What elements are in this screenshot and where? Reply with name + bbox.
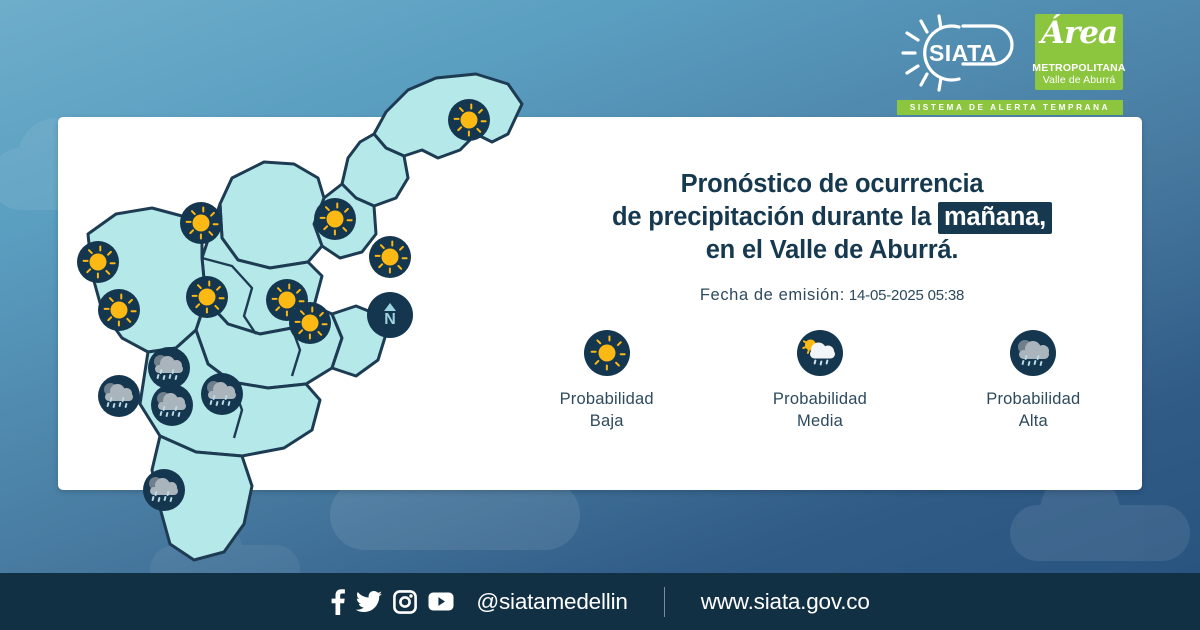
sun-rays [289,302,331,344]
legend-item-alta: Probabilidad Alta [927,330,1140,432]
sun-ray [105,269,110,274]
sun-ray [118,321,120,327]
sun-ray [286,311,288,317]
sun-ray [126,317,131,322]
footer-bar: @siatamedellin www.siata.gov.co [0,573,1200,630]
sun-ray [99,246,101,252]
rain-cloud-shape [155,391,189,419]
sun-ray [319,312,324,317]
legend-label-alta-line1: Probabilidad [986,390,1080,408]
sun-rays [98,289,140,331]
siata-wordmark: SIATA [929,40,997,66]
sun-icon [180,202,222,244]
legend-item-baja: Probabilidad Baja [500,330,713,432]
rain-cloud-shape [1016,339,1050,367]
sun-icon [314,198,356,240]
website-url[interactable]: www.siata.gov.co [701,589,870,615]
sun-ray [202,207,204,213]
sun-ray [131,310,137,312]
map-marker-alta [151,384,193,426]
sun-ray [296,289,301,294]
sun-ray [608,336,610,342]
headline-line-2-text: de precipitación durante la [612,203,938,231]
sun-ray [298,329,303,334]
sun-ray [288,284,290,290]
rain-cloud-shape [205,380,239,408]
sun-ray [214,304,219,309]
tagline-bar: SISTEMA DE ALERTA TEMPRANA [897,100,1123,115]
sun-ray [311,307,313,313]
sun-ray [110,262,116,264]
sun-ray [614,361,620,367]
sun-rays [180,202,222,244]
sun-ray [616,341,622,347]
headline-line-3: en el Valle de Aburrá. [524,234,1140,267]
sun-rays [448,99,490,141]
sun-ray [322,323,328,325]
sun-ray [336,203,338,209]
sun-ray [375,255,381,257]
sun-ray [191,210,196,215]
sun-icon [448,99,490,141]
legend-label-media-line1: Probabilidad [773,390,867,408]
sun-icon [369,236,411,278]
map-marker-baja [186,276,228,318]
sun-ray [342,226,347,231]
sun-ray [334,230,336,236]
sun-ray [86,268,91,273]
map-marker-baja [448,99,490,141]
sun-ray [208,281,210,287]
sun-rays [186,276,228,318]
cloud-rain-icon [148,347,190,389]
sun-ray [594,360,600,366]
sun-ray [378,263,383,268]
sun-ray [309,334,311,340]
sun-ray [88,249,93,254]
sun-ray [275,306,280,311]
north-arrow-icon: N [367,292,413,338]
sun-ray [478,109,483,114]
sun-ray [457,126,462,131]
sun-ray [590,351,596,353]
sun-ray [107,316,112,321]
sun-ray [107,251,112,256]
issue-date-label: Fecha de emisión: [700,286,845,304]
sun-ray [323,225,328,230]
sun-ray [109,297,114,302]
sun-ray [391,241,393,247]
footer-divider [664,587,665,617]
sun-rays [369,236,411,278]
sun-rays [77,241,119,283]
sun-ray [195,303,200,308]
background-cloud-icon [1010,505,1190,561]
sun-ray [200,234,202,240]
sun-ray [470,104,472,110]
siata-logo: SIATA [897,14,1029,92]
sun-ray [277,287,282,292]
twitter-icon[interactable] [356,591,382,613]
sun-ray [189,229,194,234]
sun-ray [317,330,322,335]
sun-icon [98,289,140,331]
sun-ray [83,260,89,262]
cloud-rain-icon [201,373,243,415]
map-marker-alta [98,375,140,417]
sun-ray [300,310,305,315]
sun-rays [314,198,356,240]
sun-cloud-rain-icon [797,330,843,376]
area-script-text: Área [1035,18,1123,49]
sun-ray [192,295,198,297]
sun-ray [397,264,402,269]
sun-ray [380,244,385,249]
sun-ray [210,212,215,217]
sun-ray [389,268,391,274]
map-marker-alta [148,347,190,389]
sun-ray [454,118,460,120]
sun-ray [216,286,221,291]
probability-legend: Probabilidad Baja [500,330,1140,432]
legend-label-alta: Probabilidad Alta [986,388,1080,432]
area-line2: Valle de Aburrá [1043,74,1116,86]
sun-ray [197,284,202,289]
sun-icon [289,302,331,344]
rain-cloud-shape [152,354,186,382]
sun-ray [476,127,481,132]
legend-label-baja: Probabilidad Baja [560,388,654,432]
issue-date-value: 14-05-2025 05:38 [849,287,964,304]
sun-ray [606,365,608,371]
logo-group: SIATA Área METROPOLITANA Valle de Aburrá… [893,12,1125,110]
map-marker-baja [98,289,140,331]
cloud-rain-icon [151,384,193,426]
sun-ray [186,221,192,223]
cloud-rain-icon [1010,330,1056,376]
youtube-icon[interactable] [428,592,454,611]
headline-highlight: mañana, [938,202,1052,234]
page-title: Pronóstico de ocurrencia de precipitació… [524,168,1140,267]
headline-line-2: de precipitación durante la mañana, [524,201,1140,234]
sun-icon [186,276,228,318]
sun-ray [104,308,110,310]
headline-line-1: Pronóstico de ocurrencia [524,168,1140,201]
sun-icon [77,241,119,283]
area-line1: METROPOLITANA [1032,63,1125,74]
issue-date: Fecha de emisión:14-05-2025 05:38 [524,286,1140,305]
infographic-root: SIATA Área METROPOLITANA Valle de Aburrá… [0,0,1200,630]
sun-ray [128,299,133,304]
valle-de-aburra-map: N [56,38,526,568]
north-arrow-triangle [384,303,396,311]
sun-icon [584,330,630,376]
sun-ray [208,230,213,235]
map-marker-baja [77,241,119,283]
legend-label-media: Probabilidad Media [773,388,867,432]
sun-ray [459,107,464,112]
sun-ray [206,308,208,314]
map-marker-baja [314,198,356,240]
cloud-with-sun-shape [804,339,836,365]
social-icons [330,589,454,615]
sun-ray [320,217,326,219]
compass-label: N [384,312,396,327]
sun-ray [120,294,122,300]
rain-cloud-shape [102,382,136,410]
legend-label-alta-line2: Alta [1019,412,1048,430]
sun-ray [325,206,330,211]
rain-cloud-shape [147,476,181,504]
legend-item-media: Probabilidad Media [713,330,926,432]
sun-ray [295,321,301,323]
legend-label-baja-line1: Probabilidad [560,390,654,408]
facebook-icon[interactable] [330,589,345,615]
instagram-icon[interactable] [393,590,417,614]
sun-ray [468,131,470,137]
map-marker-baja [180,202,222,244]
cloud-rain-icon [143,469,185,511]
sun-ray [344,208,349,213]
sun-ray [272,298,278,300]
map-marker-alta [143,469,185,511]
sun-ray [481,120,487,122]
cloud-rain-icon [98,375,140,417]
sun-ray [595,339,601,345]
sun-ray [219,297,225,299]
map-marker-baja [369,236,411,278]
legend-label-baja-line2: Baja [590,412,624,430]
area-metropolitana-logo: Área METROPOLITANA Valle de Aburrá [1035,14,1123,90]
map-marker-alta [201,373,243,415]
legend-label-media-line2: Media [797,412,843,430]
sun-ray [399,246,404,251]
sun-ray [619,353,625,355]
sun-ray [402,257,408,259]
sun-ray [347,219,353,221]
sun-ray [97,273,99,279]
map-marker-baja [289,302,331,344]
social-handle[interactable]: @siatamedellin [476,589,627,615]
sun-ray [213,223,219,225]
